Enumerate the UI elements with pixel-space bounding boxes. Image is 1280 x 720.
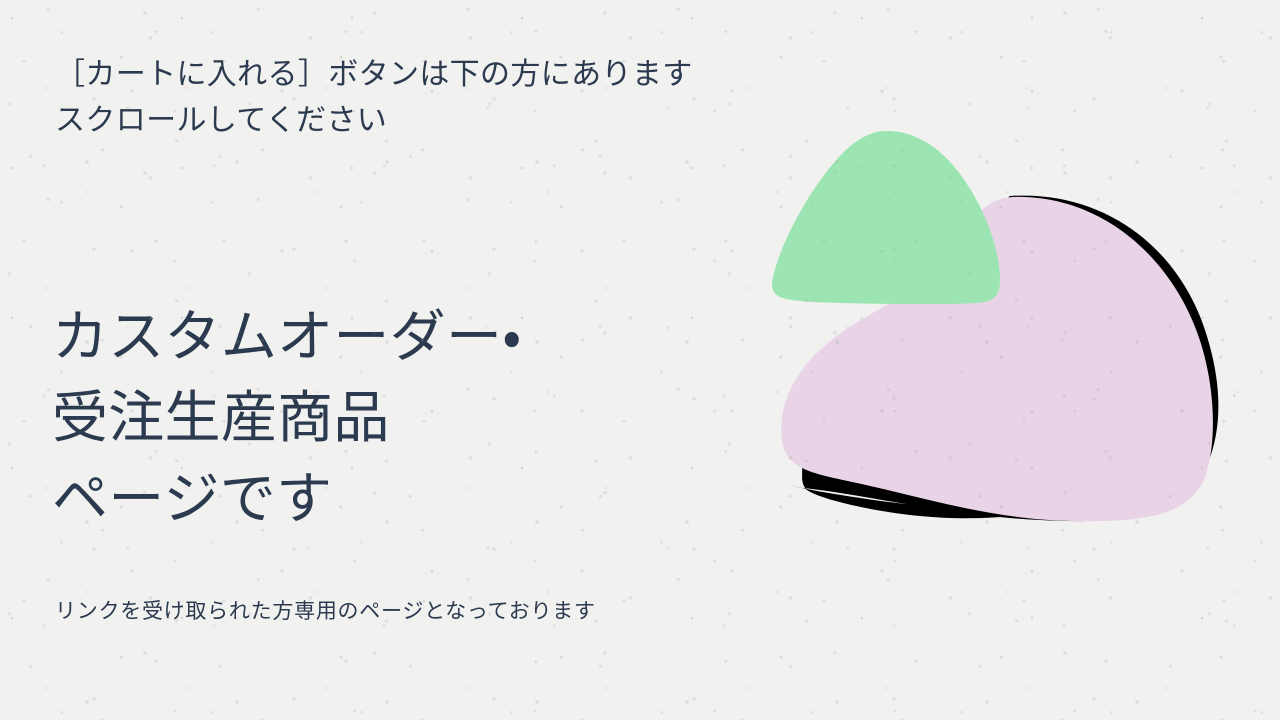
page-canvas: ［カートに入れる］ボタンは下の方にあります スクロールしてください カスタムオー…	[0, 0, 1280, 720]
page-title: カスタムオーダー・ 受注生産商品 ページです	[52, 296, 752, 540]
text-content: ［カートに入れる］ボタンは下の方にあります スクロールしてください カスタムオー…	[0, 0, 1280, 720]
page-subcaption: リンクを受け取られた方専用のページとなっております	[55, 597, 875, 626]
scroll-notice: ［カートに入れる］ボタンは下の方にあります スクロールしてください	[55, 52, 875, 143]
